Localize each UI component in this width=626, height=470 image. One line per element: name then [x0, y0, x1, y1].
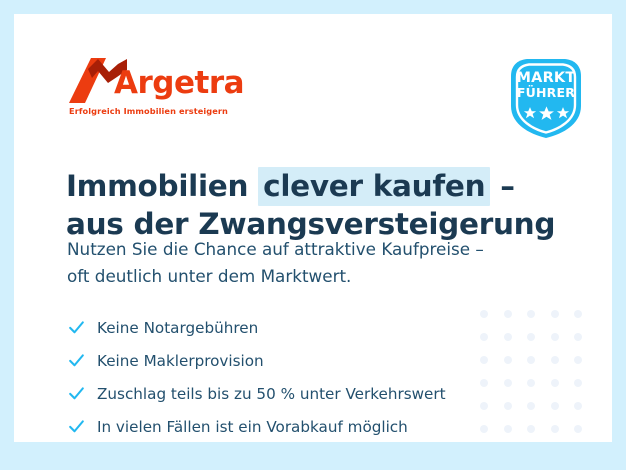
check-icon	[67, 417, 97, 436]
list-item: Zuschlag teils bis zu 50 % unter Verkehr…	[67, 377, 537, 410]
dot	[551, 425, 559, 433]
list-item-label: Keine Maklerprovision	[97, 352, 264, 370]
headline-highlight: clever kaufen	[258, 167, 490, 206]
headline-line-1: Immobilien clever kaufen –	[66, 167, 566, 205]
dot	[551, 379, 559, 387]
logo-wordmark: Argetra	[114, 68, 244, 99]
headline-text-before: Immobilien	[66, 169, 258, 203]
list-item-label: Zuschlag teils bis zu 50 % unter Verkehr…	[97, 385, 446, 403]
list-item: Keine Notargebühren	[67, 311, 537, 344]
promo-card: Argetra Erfolgreich Immobilien ersteiger…	[14, 14, 612, 442]
list-item: In vielen Fällen ist ein Vorabkauf mögli…	[67, 410, 537, 442]
subheading: Nutzen Sie die Chance auf attraktive Kau…	[67, 236, 587, 290]
benefits-checklist: Keine Notargebühren Keine Maklerprovisio…	[67, 311, 537, 442]
dot	[574, 402, 582, 410]
check-icon	[67, 384, 97, 403]
dot	[551, 402, 559, 410]
dot	[574, 310, 582, 318]
list-item-label: In vielen Fällen ist ein Vorabkauf mögli…	[97, 418, 408, 436]
dot	[574, 379, 582, 387]
page-title: Immobilien clever kaufen – aus der Zwang…	[66, 167, 566, 243]
dot	[551, 310, 559, 318]
promo-card-frame: Argetra Erfolgreich Immobilien ersteiger…	[0, 0, 626, 470]
subheading-line-1: Nutzen Sie die Chance auf attraktive Kau…	[67, 236, 587, 263]
dot	[574, 356, 582, 364]
check-icon	[67, 351, 97, 370]
list-item-label: Keine Notargebühren	[97, 319, 258, 337]
argetra-logo[interactable]: Argetra Erfolgreich Immobilien ersteiger…	[68, 58, 258, 124]
headline-text-after: –	[490, 169, 514, 203]
shield-icon	[501, 125, 591, 144]
dot	[551, 356, 559, 364]
markt-fuehrer-badge: MARKT FÜHRER	[501, 50, 591, 140]
dot	[551, 333, 559, 341]
logo-tagline: Erfolgreich Immobilien ersteigern	[69, 106, 228, 116]
dot	[574, 333, 582, 341]
dot	[574, 425, 582, 433]
check-icon	[67, 318, 97, 337]
subheading-line-2: oft deutlich unter dem Marktwert.	[67, 263, 587, 290]
list-item: Keine Maklerprovision	[67, 344, 537, 377]
